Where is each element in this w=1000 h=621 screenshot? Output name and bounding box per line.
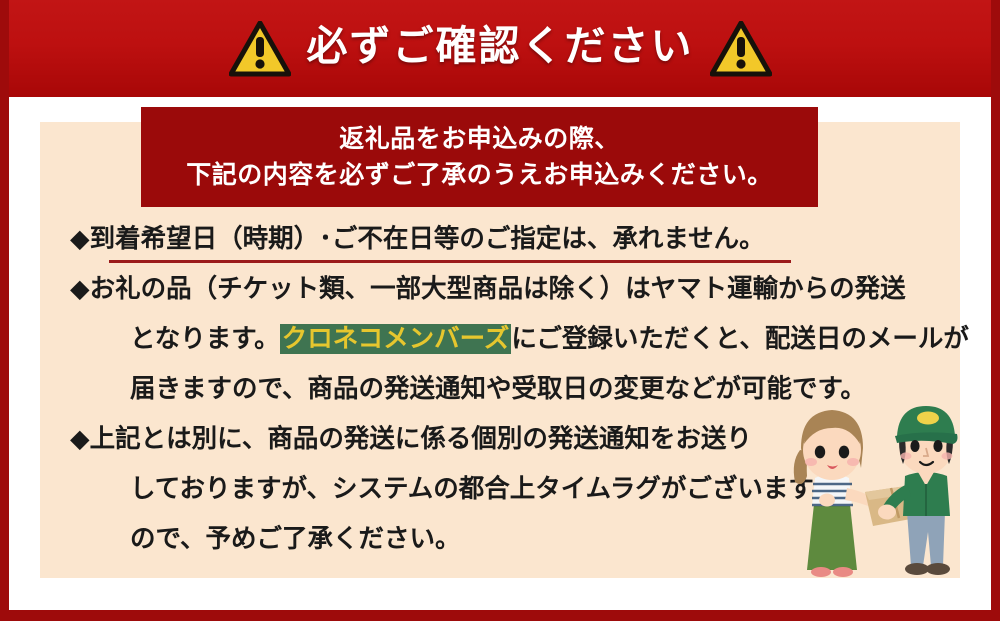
notice-3-text-1: 上記とは別に、商品の発送に係る個別の発送通知をお送り [90, 425, 752, 453]
notice-2-text-3: にご登録いただくと、配送日のメールが [511, 325, 968, 353]
banner-header: 必ずご確認ください [0, 0, 1000, 97]
bullet-marker: ◆ [70, 225, 90, 253]
kuroneko-members-highlight[interactable]: クロネコメンバーズ [280, 324, 512, 354]
bullet-marker: ◆ [70, 425, 90, 453]
delivery-handoff-illustration [787, 396, 972, 578]
notice-2-text-4: 届きますので、商品の発送通知や受取日の変更などが可能です。 [130, 375, 866, 403]
notice-2-line-2: となります。クロネコメンバーズにご登録いただくと、配送日のメールが [70, 315, 960, 365]
notice-item-2: ◆お礼の品（チケット類、一部大型商品は除く）はヤマト運輸からの発送 となります。… [40, 265, 960, 415]
warning-triangle-icon [229, 21, 291, 77]
page-title: 必ずご確認ください [307, 26, 694, 71]
message-box-line-2: 下記の内容を必ずご了承のうえお申込みください。 [186, 158, 773, 193]
notice-2-text-2: となります。 [130, 325, 280, 353]
notice-banner: 必ずご確認ください 返礼品をお申込みの際、 下記の内容を必ずご了承のうえお申込み… [0, 0, 1000, 621]
message-box: 返礼品をお申込みの際、 下記の内容を必ずご了承のうえお申込みください。 [141, 107, 818, 207]
message-box-line-1: 返礼品をお申込みの際、 [339, 122, 620, 157]
notice-1-line-1: ◆到着希望日（時期）･ご不在日等のご指定は、承れません。 [70, 215, 960, 265]
warning-triangle-icon [710, 21, 772, 77]
notice-1-underline [109, 260, 791, 263]
notice-2-line-1: ◆お礼の品（チケット類、一部大型商品は除く）はヤマト運輸からの発送 [70, 265, 960, 315]
notice-2-text-1: お礼の品（チケット類、一部大型商品は除く）はヤマト運輸からの発送 [90, 275, 906, 303]
notice-item-1: ◆到着希望日（時期）･ご不在日等のご指定は、承れません。 [40, 215, 960, 265]
notice-1-text: 到着希望日（時期）･ご不在日等のご指定は、承れません。 [90, 225, 765, 253]
bullet-marker: ◆ [70, 275, 90, 303]
